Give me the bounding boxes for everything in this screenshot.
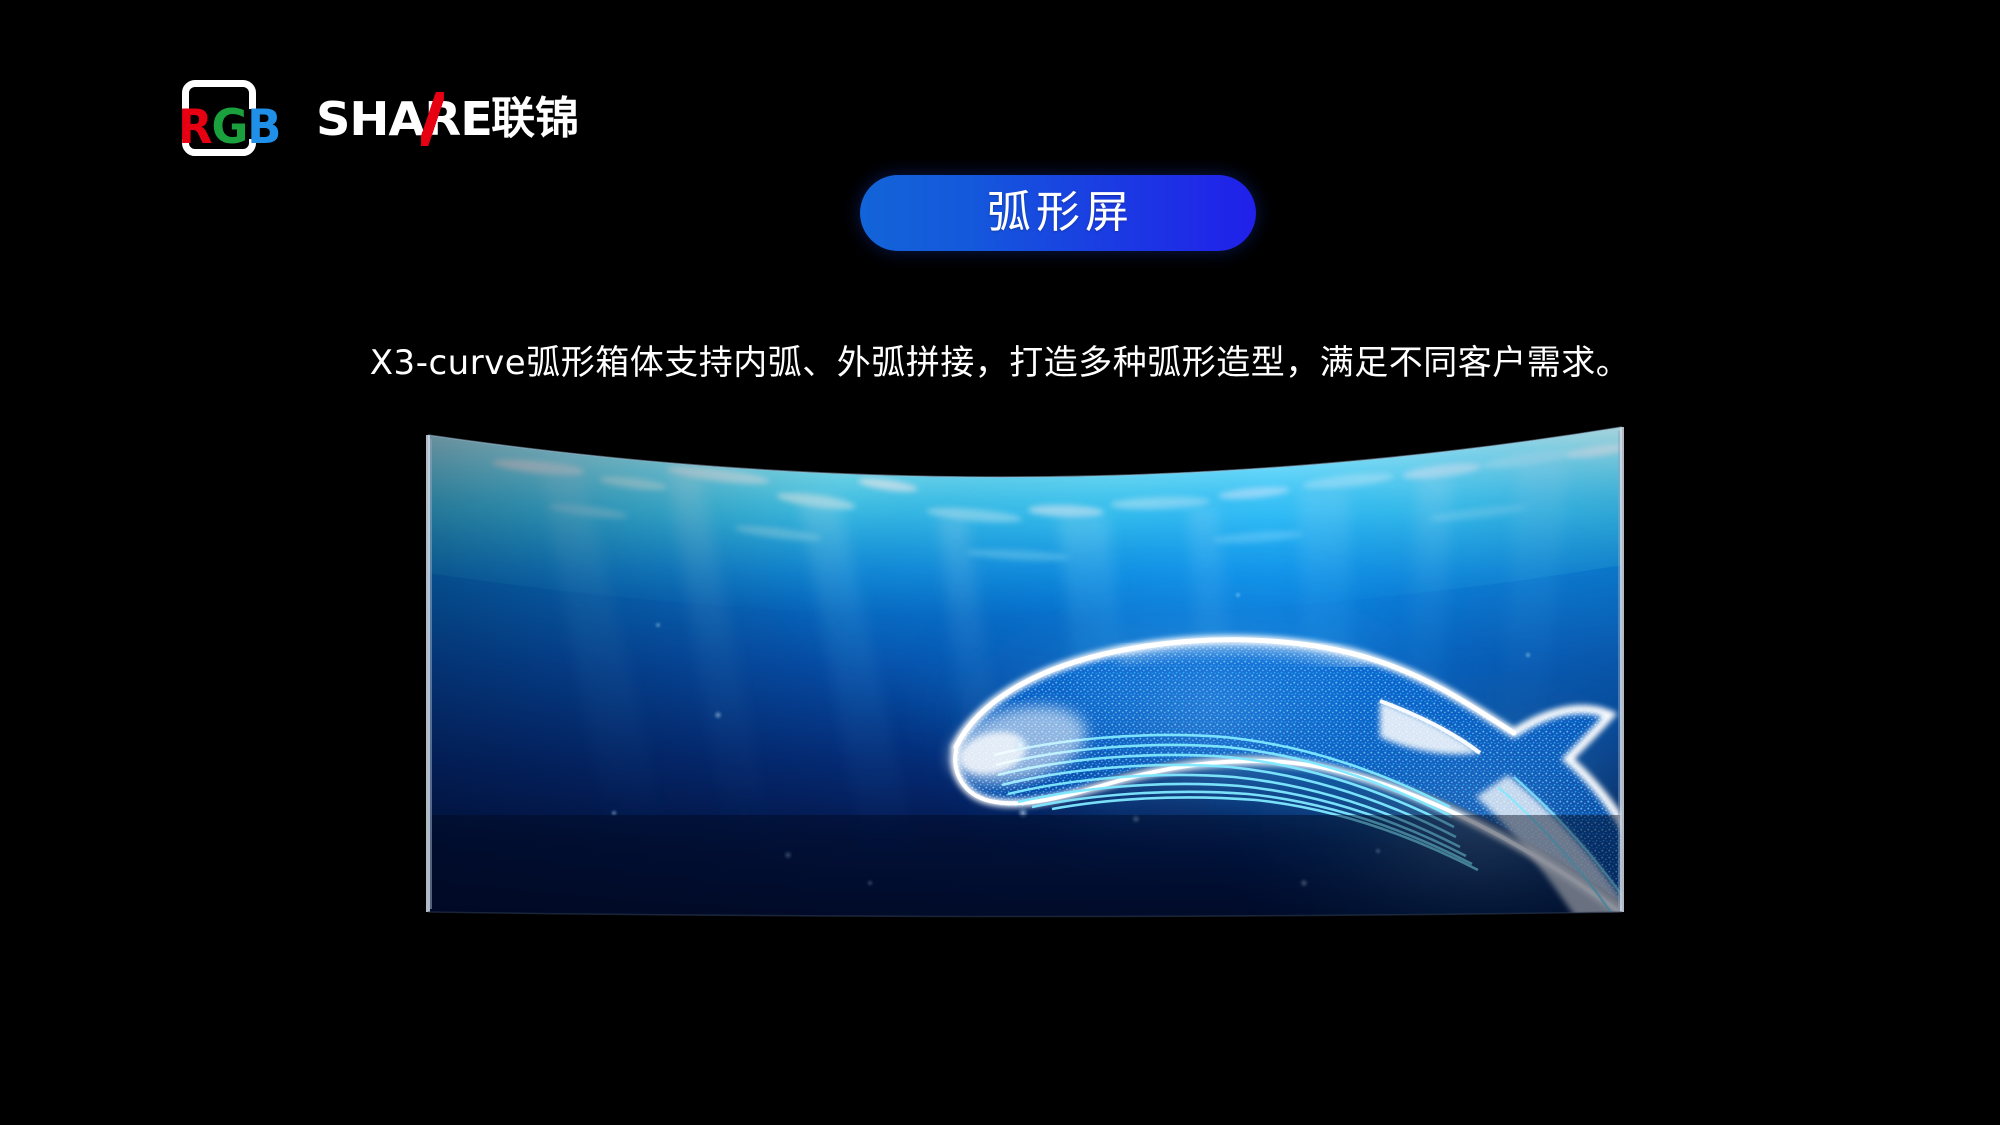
logo-wordmark-text: SHARE	[316, 92, 492, 146]
rgbshare-logo: RGB SHARE 联锦	[178, 78, 579, 160]
logo-letter-g: G	[211, 104, 247, 151]
logo-letter-r: R	[178, 104, 211, 151]
section-title-pill[interactable]: 弧形屏	[860, 175, 1256, 251]
logo-rgb-letters: RGB	[178, 104, 280, 151]
slide-canvas: RGB SHARE 联锦 弧形屏 X3-curve弧形箱体支持内弧、外弧拼接，打…	[0, 0, 2000, 1125]
logo-bracket-mark: RGB	[178, 78, 270, 160]
curved-led-display	[418, 415, 1638, 935]
logo-wordmark: SHARE	[316, 96, 492, 142]
logo-chinese-name: 联锦	[491, 96, 579, 142]
description-text: X3-curve弧形箱体支持内弧、外弧拼接，打造多种弧形造型，满足不同客户需求。	[0, 339, 2000, 387]
logo-letter-b: B	[247, 104, 280, 151]
section-title-label: 弧形屏	[982, 190, 1134, 236]
curved-led-display-graphic	[418, 415, 1638, 935]
